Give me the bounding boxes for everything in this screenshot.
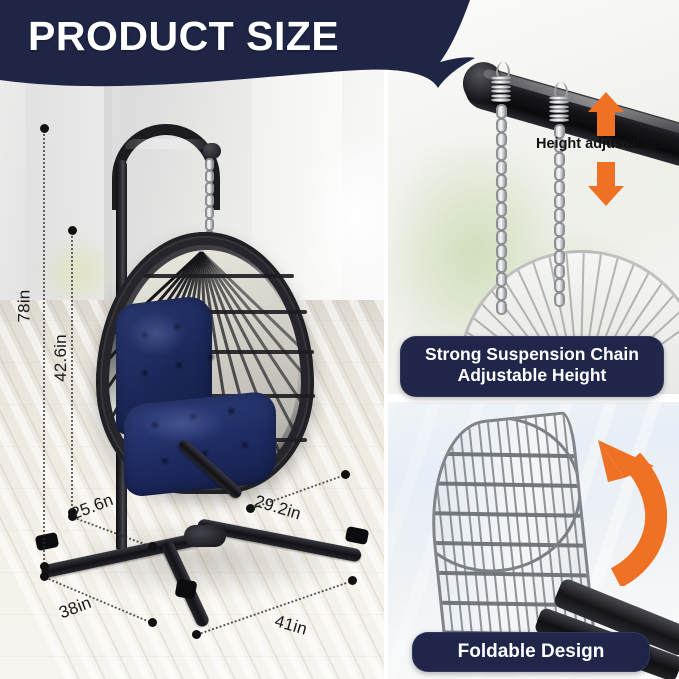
hanging-chain <box>205 158 214 240</box>
stand-arm-cap <box>203 143 221 159</box>
page-title: PRODUCT SIZE <box>28 16 339 57</box>
base-foot-front <box>175 578 198 599</box>
dimension-label-height-total: 78in <box>14 290 34 323</box>
status-badge-suspension-chain: Strong Suspension Chain Adjustable Heigh… <box>400 336 664 397</box>
base-center-hub <box>184 525 226 547</box>
curved-arrow-up-icon <box>558 426 678 586</box>
dimension-label-height-seat: 42.6in <box>51 334 71 382</box>
height-adjustable-label: Height adjustable <box>536 136 657 152</box>
suspension-chain-1 <box>496 104 507 334</box>
status-badge-foldable-design: Foldable Design <box>412 632 650 672</box>
badge-line-1: Strong Suspension Chain <box>407 344 657 365</box>
suspension-chain-2 <box>554 124 565 324</box>
main-product-panel: 78in 42.6in 25.6n 29.2in 38in 41in <box>0 0 386 679</box>
panel-divider-vertical <box>384 0 388 679</box>
badge-line-2: Adjustable Height <box>407 365 657 386</box>
product-infographic: 78in 42.6in 25.6n 29.2in 38in 41in Heigh… <box>0 0 679 679</box>
